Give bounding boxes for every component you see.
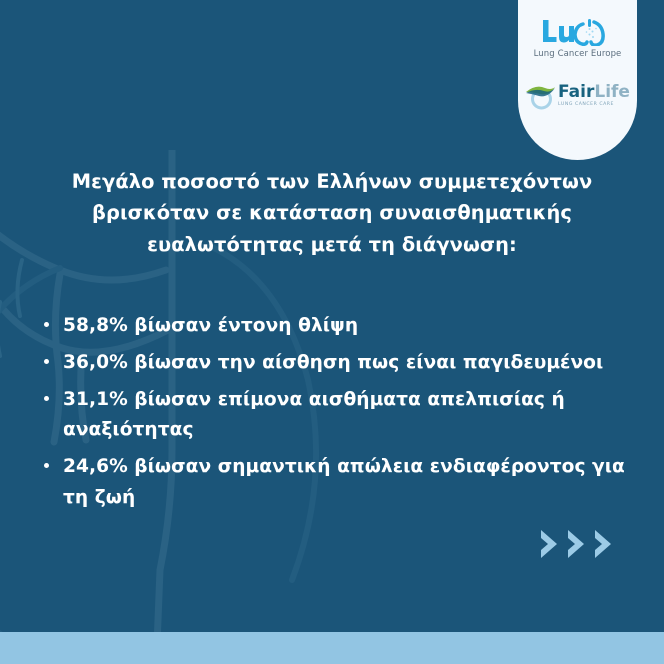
chevron-right-icon [537, 527, 563, 561]
fairlife-swoosh-icon [525, 81, 557, 111]
luce-caption: Lung Cancer Europe [534, 49, 622, 59]
chevron-group [537, 527, 617, 561]
bullet-dot-icon [44, 452, 63, 468]
fairlife-wordmark: FairLife [558, 84, 630, 101]
luce-logo: Lung Cancer Europe [534, 16, 622, 59]
heading-line-2: βρισκόταν σε κατάσταση συναισθηματικής [52, 197, 612, 228]
fairlife-name-part2: Life [594, 82, 630, 102]
fairlife-name-part1: Fair [558, 82, 594, 102]
bullet-dot-icon [44, 311, 63, 327]
luce-lung-mark-icon [540, 16, 616, 46]
list-item: 31,1% βίωσαν επίμονα αισθήματα απελπισία… [44, 385, 644, 445]
slide-canvas: Lung Cancer Europe FairLife LUNG CANCER … [0, 0, 664, 664]
fairlife-logo: FairLife LUNG CANCER CARE [525, 81, 630, 111]
page-title: Μεγάλο ποσοστό των Ελλήνων συμμετεχόντων… [52, 166, 612, 260]
bottom-accent-bar [0, 632, 664, 664]
statistics-list: 58,8% βίωσαν έντονη θλίψη 36,0% βίωσαν τ… [44, 311, 644, 520]
bullet-dot-icon [44, 385, 63, 401]
heading-line-3: ευαλωτότητας μετά τη διάγνωση: [52, 229, 612, 260]
bullet-dot-icon [44, 348, 63, 364]
list-item-label: 58,8% βίωσαν έντονη θλίψη [63, 311, 358, 341]
list-item: 58,8% βίωσαν έντονη θλίψη [44, 311, 644, 341]
list-item: 24,6% βίωσαν σημαντική απώλεια ενδιαφέρο… [44, 452, 644, 512]
list-item-label: 36,0% βίωσαν την αίσθηση πως είναι παγιδ… [63, 348, 603, 378]
list-item: 36,0% βίωσαν την αίσθηση πως είναι παγιδ… [44, 348, 644, 378]
logo-panel: Lung Cancer Europe FairLife LUNG CANCER … [518, 0, 637, 160]
chevron-right-icon [564, 527, 590, 561]
fairlife-subtitle: LUNG CANCER CARE [558, 103, 630, 108]
chevron-right-icon [591, 527, 617, 561]
heading-line-1: Μεγάλο ποσοστό των Ελλήνων συμμετεχόντων [52, 166, 612, 197]
list-item-label: 24,6% βίωσαν σημαντική απώλεια ενδιαφέρο… [63, 452, 644, 512]
list-item-label: 31,1% βίωσαν επίμονα αισθήματα απελπισία… [63, 385, 644, 445]
